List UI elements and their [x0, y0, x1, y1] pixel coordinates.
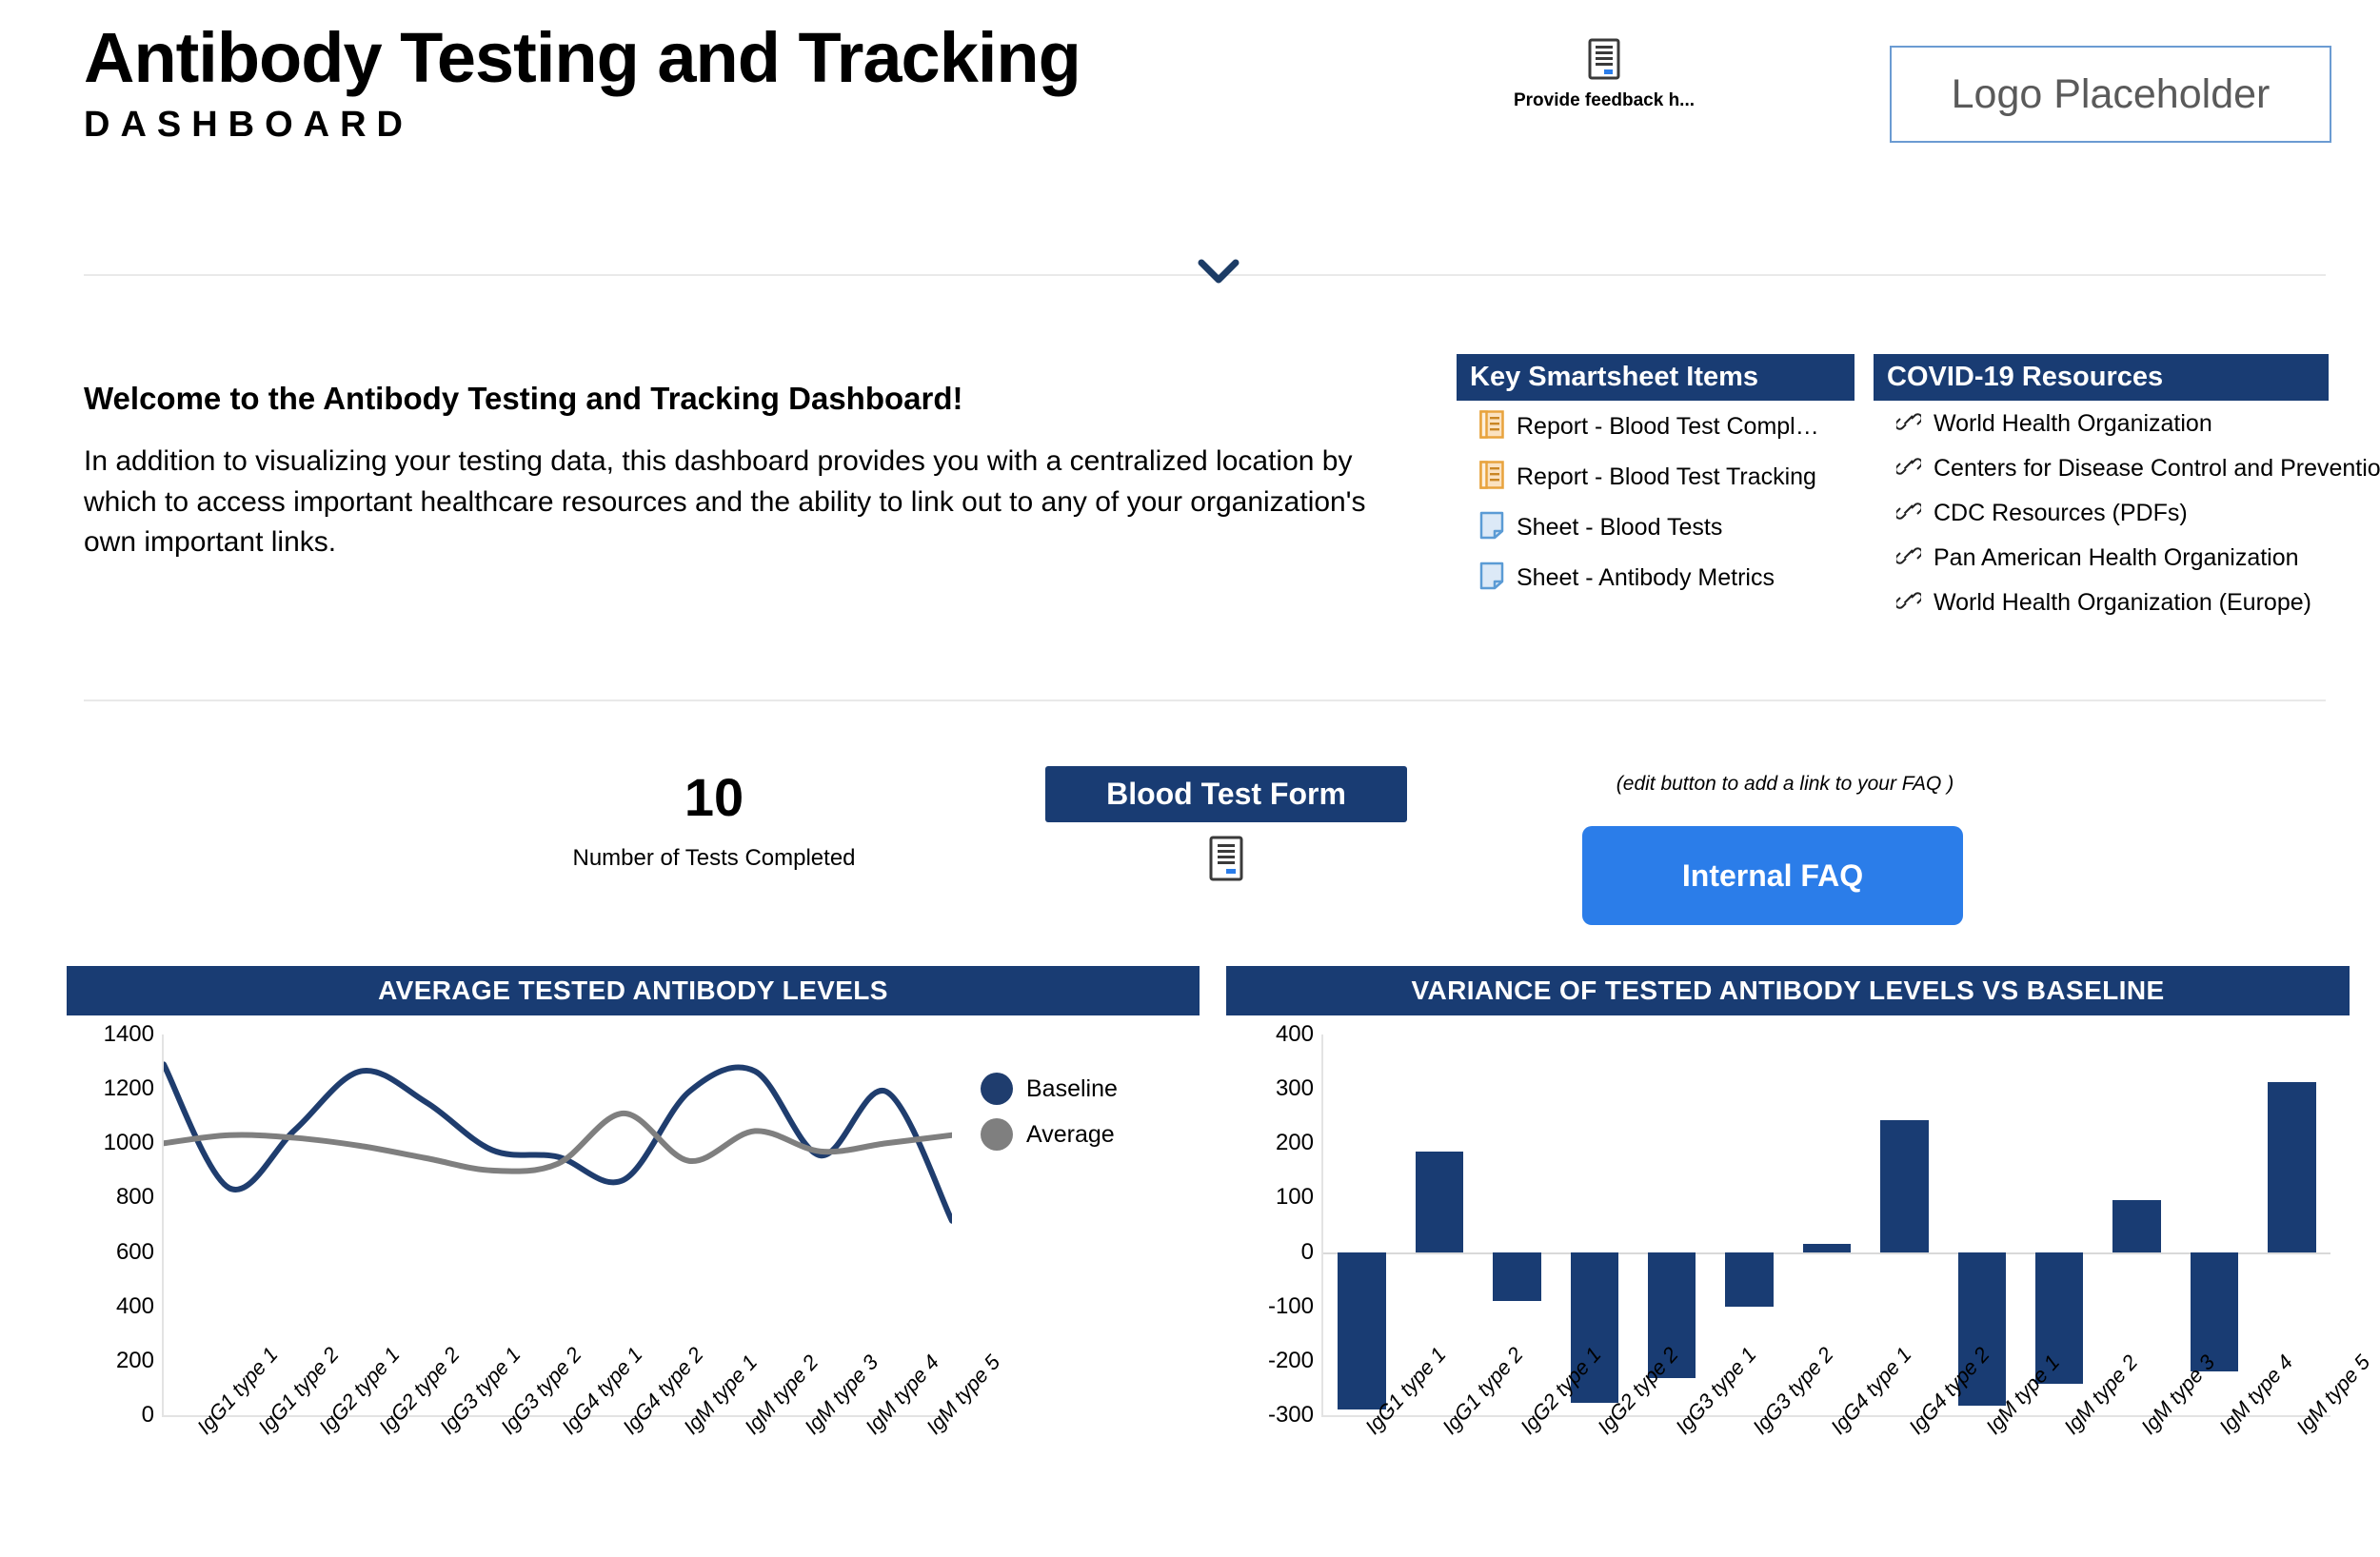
bar-5 — [1725, 1252, 1773, 1307]
report-icon — [1479, 410, 1504, 443]
collapse-toggle[interactable] — [1190, 255, 1247, 293]
logo-placeholder-text: Logo Placeholder — [1952, 71, 2271, 118]
covid-link-label: Centers for Disease Control and Preventi… — [1934, 455, 2380, 483]
line-chart-legend: BaselineAverage — [981, 1073, 1118, 1164]
smartsheet-item-sheet-antibody-metrics[interactable]: Sheet - Antibody Metrics — [1479, 562, 1854, 595]
line-chart-y-axis: 1400120010008006004002000 — [67, 1035, 154, 1415]
covid-link-label: World Health Organization (Europe) — [1934, 589, 2311, 617]
covid-link-cdc-resources-pdfs[interactable]: CDC Resources (PDFs) — [1896, 500, 2329, 527]
y-axis-tick: 0 — [1234, 1239, 1314, 1266]
logo-placeholder: Logo Placeholder — [1890, 46, 2331, 143]
smartsheet-item-sheet-blood-tests[interactable]: Sheet - Blood Tests — [1479, 511, 1854, 544]
dashboard-page: Antibody Testing and Tracking DASHBOARD … — [0, 0, 2380, 1557]
y-axis-tick: 1000 — [74, 1130, 154, 1156]
y-axis-tick: -200 — [1234, 1348, 1314, 1374]
internal-faq-button[interactable]: Internal FAQ — [1582, 826, 1963, 925]
smartsheet-item-label: Sheet - Blood Tests — [1517, 514, 1722, 542]
covid-link-label: CDC Resources (PDFs) — [1934, 500, 2188, 527]
welcome-section: Welcome to the Antibody Testing and Trac… — [84, 381, 1417, 563]
bar-1 — [1416, 1152, 1463, 1252]
blood-test-form-icon-wrap[interactable] — [1045, 836, 1407, 886]
welcome-heading: Welcome to the Antibody Testing and Trac… — [84, 381, 1417, 417]
y-axis-tick: 200 — [1234, 1130, 1314, 1156]
sheet-icon — [1479, 511, 1504, 544]
bar-chart-title: VARIANCE OF TESTED ANTIBODY LEVELS VS BA… — [1226, 966, 2350, 1015]
legend-entry: Average — [981, 1118, 1118, 1151]
y-axis-tick: -100 — [1234, 1293, 1314, 1320]
welcome-body: In addition to visualizing your testing … — [84, 442, 1417, 563]
legend-label: Average — [1026, 1121, 1115, 1149]
y-axis-tick: 100 — [1234, 1184, 1314, 1211]
link-icon — [1896, 544, 1921, 572]
form-document-icon[interactable] — [1495, 38, 1714, 85]
bar-0 — [1338, 1252, 1385, 1410]
legend-swatch — [981, 1118, 1013, 1151]
smartsheet-panel-list: Report - Blood Test Compl… Report - Bloo… — [1457, 401, 1854, 595]
line-chart-body: 1400120010008006004002000 BaselineAverag… — [67, 1015, 1200, 1482]
covid-link-cdc[interactable]: Centers for Disease Control and Preventi… — [1896, 455, 2329, 483]
covid-panel-list: World Health Organization Centers for Di… — [1874, 401, 2329, 617]
title-block: Antibody Testing and Tracking DASHBOARD — [84, 21, 1081, 146]
smartsheet-item-report-blood-test-completion[interactable]: Report - Blood Test Compl… — [1479, 410, 1854, 443]
dashboard-header: Antibody Testing and Tracking DASHBOARD … — [0, 0, 2380, 219]
covid-link-world-health-organization[interactable]: World Health Organization — [1896, 410, 2329, 438]
bar-chart-body: 4003002001000-100-200-300 IgG1 type 1IgG… — [1226, 1015, 2350, 1482]
covid-link-label: Pan American Health Organization — [1934, 544, 2299, 572]
y-axis-tick: -300 — [1234, 1402, 1314, 1429]
smartsheet-item-label: Report - Blood Test Compl… — [1517, 413, 1819, 441]
divider-middle — [84, 700, 2326, 701]
y-axis-tick: 800 — [74, 1184, 154, 1211]
form-document-icon[interactable] — [1209, 836, 1243, 886]
variance-vs-baseline-chart: VARIANCE OF TESTED ANTIBODY LEVELS VS BA… — [1226, 966, 2350, 1482]
blood-test-form-widget: Blood Test Form — [1045, 766, 1407, 886]
page-subtitle: DASHBOARD — [84, 105, 1081, 146]
blood-test-form-button[interactable]: Blood Test Form — [1045, 766, 1407, 822]
bar-chart-y-axis: 4003002001000-100-200-300 — [1226, 1035, 1314, 1415]
link-icon — [1896, 410, 1921, 438]
smartsheet-item-report-blood-test-tracking[interactable]: Report - Blood Test Tracking — [1479, 461, 1854, 494]
link-icon — [1896, 455, 1921, 483]
feedback-label: Provide feedback h... — [1495, 90, 1714, 111]
covid-resources-panel: COVID-19 Resources World Health Organiza… — [1874, 354, 2329, 634]
y-axis-tick: 1200 — [74, 1075, 154, 1102]
smartsheet-item-label: Sheet - Antibody Metrics — [1517, 564, 1775, 592]
link-icon — [1896, 589, 1921, 617]
average-antibody-levels-chart: AVERAGE TESTED ANTIBODY LEVELS 140012001… — [67, 966, 1200, 1482]
bar-6 — [1803, 1244, 1851, 1252]
covid-link-who-europe[interactable]: World Health Organization (Europe) — [1896, 589, 2329, 617]
zero-line — [1323, 1252, 2330, 1254]
line-series-0 — [164, 1064, 952, 1220]
bar-10 — [2112, 1200, 2160, 1252]
y-axis-tick: 300 — [1234, 1075, 1314, 1102]
bar-12 — [2268, 1082, 2315, 1252]
y-axis-tick: 1400 — [74, 1021, 154, 1048]
legend-swatch — [981, 1073, 1013, 1105]
y-axis-tick: 600 — [74, 1239, 154, 1266]
feedback-widget[interactable]: Provide feedback h... — [1495, 38, 1714, 111]
chevron-down-icon[interactable] — [1190, 255, 1247, 294]
y-axis-tick: 200 — [74, 1348, 154, 1374]
covid-link-pan-american-health-organization[interactable]: Pan American Health Organization — [1896, 544, 2329, 572]
report-icon — [1479, 461, 1504, 494]
metric-label: Number of Tests Completed — [566, 845, 862, 872]
legend-entry: Baseline — [981, 1073, 1118, 1105]
tests-completed-metric: 10 Number of Tests Completed — [566, 771, 862, 872]
line-chart-title: AVERAGE TESTED ANTIBODY LEVELS — [67, 966, 1200, 1015]
covid-panel-title: COVID-19 Resources — [1874, 354, 2329, 401]
page-title: Antibody Testing and Tracking — [84, 21, 1081, 95]
legend-label: Baseline — [1026, 1075, 1118, 1103]
smartsheet-item-label: Report - Blood Test Tracking — [1517, 463, 1816, 491]
bar-2 — [1493, 1252, 1540, 1301]
faq-note: (edit button to add a link to your FAQ ) — [1571, 773, 1999, 796]
covid-link-label: World Health Organization — [1934, 410, 2212, 438]
y-axis-tick: 400 — [1234, 1021, 1314, 1048]
y-axis-tick: 0 — [74, 1402, 154, 1429]
key-smartsheet-items-panel: Key Smartsheet Items Report - Blood Test… — [1457, 354, 1854, 612]
link-icon — [1896, 500, 1921, 527]
y-axis-tick: 400 — [74, 1293, 154, 1320]
bar-7 — [1880, 1120, 1928, 1252]
smartsheet-panel-title: Key Smartsheet Items — [1457, 354, 1854, 401]
sheet-icon — [1479, 562, 1504, 595]
metric-value: 10 — [566, 771, 862, 824]
